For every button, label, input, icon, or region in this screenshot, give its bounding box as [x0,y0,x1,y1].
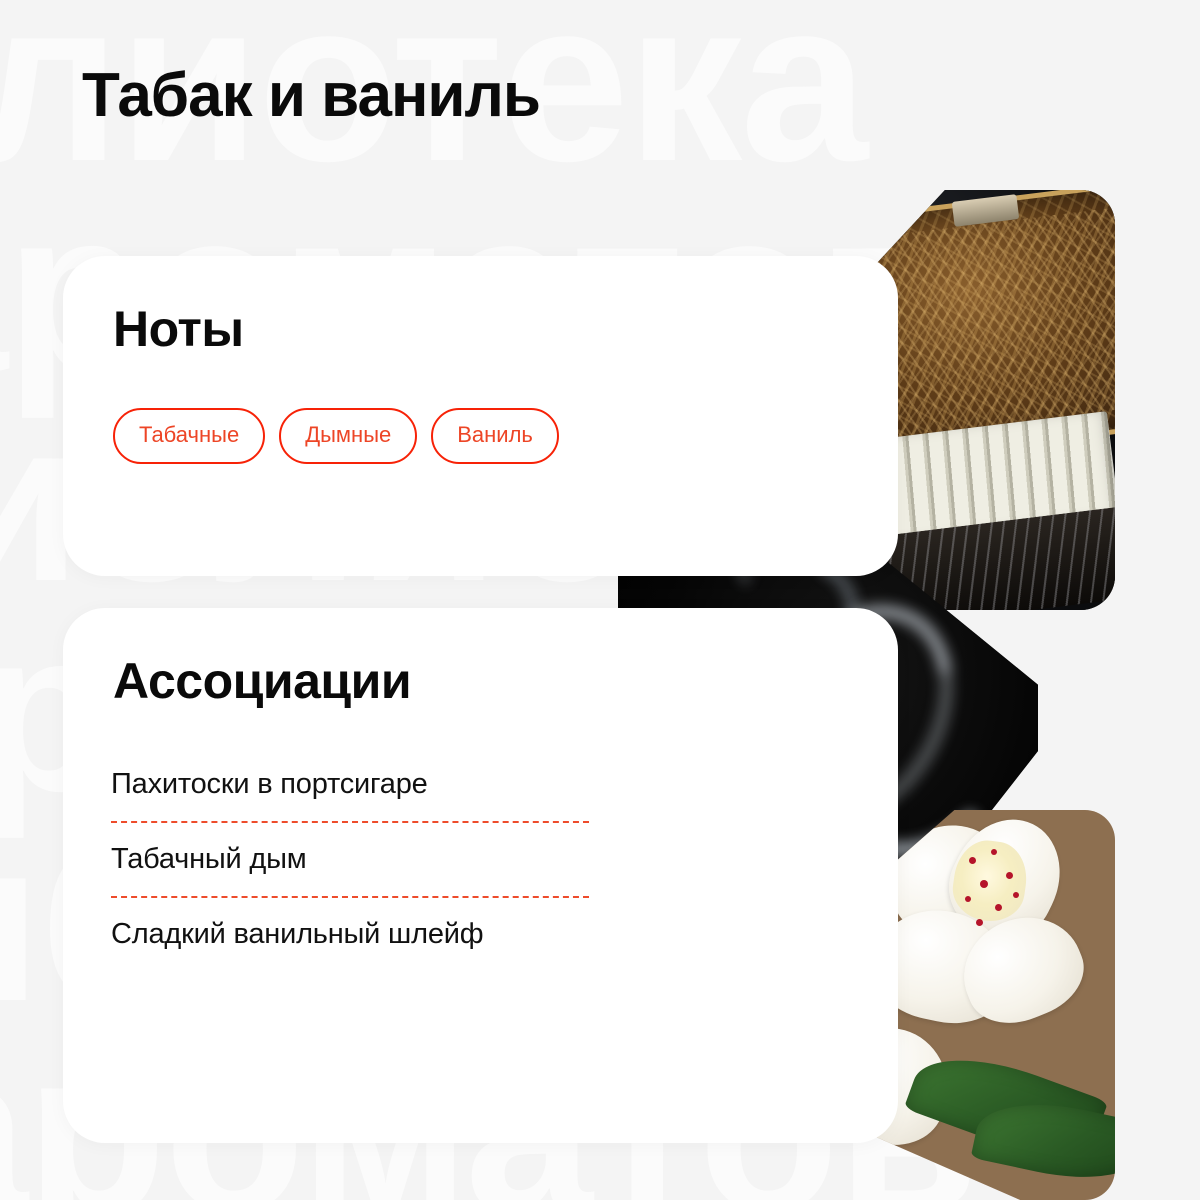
orchid-spot [991,849,997,855]
note-pill-tobacco[interactable]: Табачные [113,408,265,464]
associations-heading: Ассоциации [113,656,411,706]
association-item: Пахитоски в портсигаре [111,760,591,813]
association-item: Сладкий ванильный шлейф [111,910,591,963]
orchid-spot [1013,892,1019,898]
page-title: Табак и ваниль [82,60,540,131]
note-pill-vanilla[interactable]: Ваниль [431,408,559,464]
association-separator [111,821,589,823]
note-pill-smoky[interactable]: Дымные [279,408,417,464]
orchid-spot [969,857,976,864]
associations-card: Ассоциации Пахитоски в портсигаре Табачн… [63,608,898,1143]
association-item: Табачный дым [111,835,591,888]
association-separator [111,896,589,898]
orchid-spot [995,904,1002,911]
notes-heading: Ноты [113,304,244,354]
notes-card: Ноты Табачные Дымные Ваниль [63,256,898,576]
associations-list: Пахитоски в портсигаре Табачный дым Слад… [111,760,591,963]
orchid-spot [1006,872,1013,879]
notes-pill-group: Табачные Дымные Ваниль [113,408,559,464]
